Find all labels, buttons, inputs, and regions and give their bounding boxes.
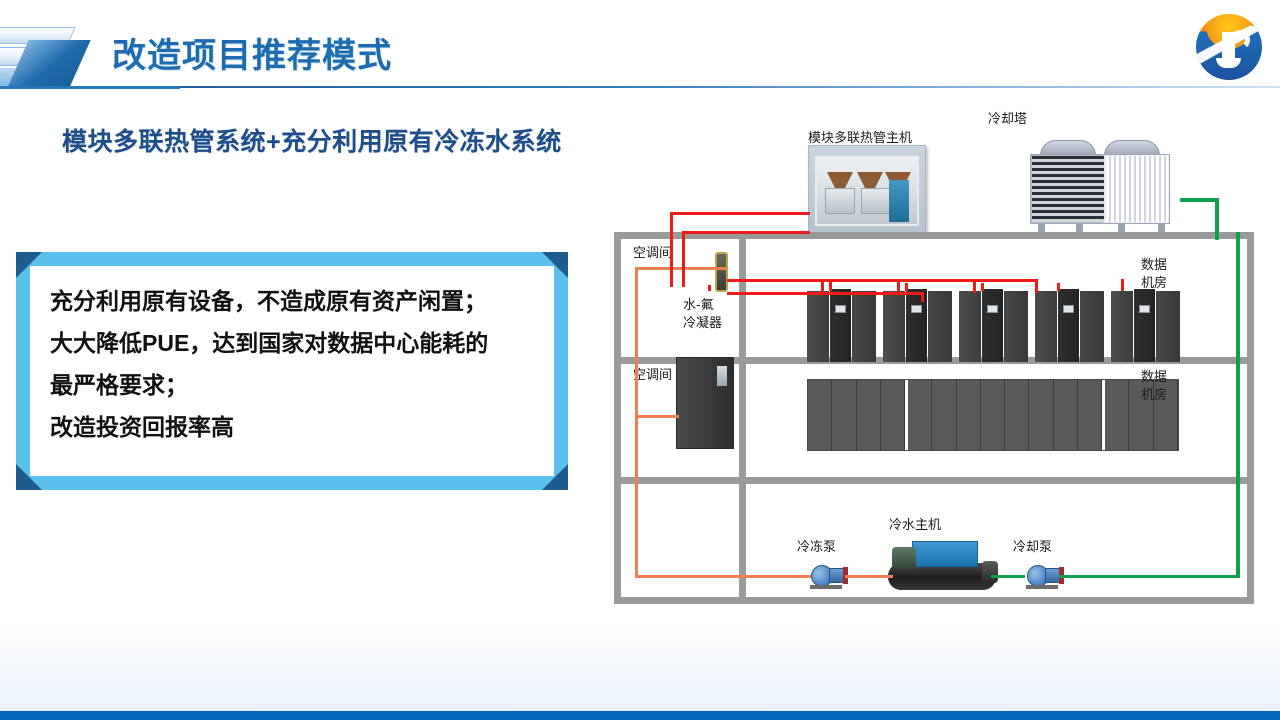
ac-cab-left: [959, 291, 981, 362]
pipe-red-condenser-tap: [708, 285, 711, 291]
mid-floor-server-racks: [807, 379, 1179, 451]
top-floor-ac-units: [807, 289, 1179, 362]
ac-unit-group-3: [959, 289, 1028, 362]
ac-unit-group-5: [1111, 289, 1180, 362]
chiller-blue-body: [912, 541, 978, 567]
module-heatpipe-host-photo: [808, 145, 926, 235]
water-fluorine-condenser-icon: [715, 252, 728, 292]
pipe-red-to-unit-4: [1057, 283, 1060, 291]
mid-floor-ac-cabinet: [676, 357, 734, 449]
ac-display-panel: [987, 305, 998, 313]
ac-cab-left: [883, 291, 905, 362]
header-underline: [175, 86, 1280, 88]
pipe-green-chiller-to-pump: [991, 575, 1025, 578]
heatpipe-frame: [815, 156, 919, 226]
pipe-red-to-unit-1: [829, 279, 832, 291]
ac-cab-center: [1134, 289, 1155, 362]
label-ac-room-top: 空调间: [633, 245, 672, 262]
callout-line-4: 改造投资回报率高: [50, 406, 548, 448]
page-title: 改造项目推荐模式: [112, 28, 392, 77]
pipe-red-branch-a: [727, 279, 1037, 282]
company-logo-icon: [1196, 14, 1262, 80]
pipe-orange-to-ac-cabinet: [635, 415, 679, 418]
footer-bar: [0, 711, 1280, 720]
cooling-tower-photo: [1020, 134, 1180, 242]
ac-cab-center: [982, 289, 1003, 362]
rack: [881, 380, 905, 450]
label-cooling-pump: 冷却泵: [1013, 539, 1052, 556]
pipe-orange-top-run: [635, 267, 727, 270]
pipe-red-host-top-run: [670, 212, 810, 215]
pipe-red-host-riser: [670, 212, 673, 287]
benefits-callout-box: 充分利用原有设备，不造成原有资产闲置； 大大降低PUE，达到国家对数据中心能耗的…: [16, 252, 568, 490]
rack: [832, 380, 856, 450]
header-underline-left: [0, 86, 180, 89]
ac-display-panel: [1139, 305, 1150, 313]
pump-base: [810, 585, 842, 589]
label-water-fluorine-condenser-1: 水-氟: [683, 297, 714, 314]
label-water-fluorine-condenser-2: 冷凝器: [683, 315, 722, 332]
label-ac-room-mid: 空调间: [633, 367, 672, 384]
rack: [957, 380, 981, 450]
chiller-compressor: [892, 547, 916, 569]
rack: [981, 380, 1005, 450]
slide-header: 改造项目推荐模式: [0, 0, 1280, 92]
pipe-green-bottom-run: [1059, 575, 1239, 578]
rack: [1029, 380, 1053, 450]
rack: [1105, 380, 1129, 450]
pipe-red-to-unit-2: [905, 283, 908, 291]
tower-louvers: [1032, 156, 1104, 222]
rack: [1054, 380, 1078, 450]
ac-cab-left: [1035, 291, 1057, 362]
ac-cab-left: [1111, 291, 1133, 362]
pump-base: [1026, 585, 1058, 589]
ac-cab-right: [852, 291, 876, 362]
room-divider-bottom: [739, 477, 746, 597]
label-data-room-mid-2: 机房: [1141, 387, 1167, 404]
rack: [1005, 380, 1029, 450]
pipe-red-drop-x: [1035, 279, 1038, 293]
pipe-orange-pump-to-chiller: [845, 575, 893, 578]
label-cooling-tower: 冷却塔: [988, 111, 1027, 128]
ac-cab-right: [1004, 291, 1028, 362]
rack: [908, 380, 932, 450]
pipe-red-to-unit-5: [1121, 279, 1124, 291]
system-diagram: 模块多联热管主机 冷却塔: [600, 100, 1270, 630]
pipe-orange-riser: [635, 267, 638, 575]
pipe-green-tower-run: [1180, 198, 1219, 202]
pipe-green-tower-riser: [1215, 198, 1219, 240]
ac-display-panel: [911, 305, 922, 313]
room-divider-top: [739, 239, 746, 357]
section-subtitle: 模块多联热管系统+充分利用原有冷冻水系统: [62, 122, 562, 158]
pipe-red-riser-2: [897, 279, 900, 293]
ac-unit-group-4: [1035, 289, 1104, 362]
ac-display-panel: [1063, 305, 1074, 313]
cooling-water-pump-icon: [1023, 563, 1063, 589]
rack: [1078, 380, 1102, 450]
pipe-red-to-unit-3: [981, 283, 984, 291]
ac-display-panel: [835, 305, 846, 313]
ac-cab-left: [807, 291, 829, 362]
label-data-room-top-2: 机房: [1141, 275, 1167, 292]
heatpipe-blue-module: [889, 180, 909, 222]
label-data-room-top-1: 数据: [1141, 257, 1167, 274]
chiller-endcap: [982, 561, 998, 583]
room-divider-mid: [739, 357, 746, 477]
pipe-green-riser: [1236, 232, 1240, 578]
chilled-water-pump-icon: [807, 563, 847, 589]
pipe-red-riser-3: [973, 279, 976, 293]
callout-text: 充分利用原有设备，不造成原有资产闲置； 大大降低PUE，达到国家对数据中心能耗的…: [50, 280, 548, 448]
pipe-red-riser-1: [821, 279, 824, 293]
pipe-orange-bottom-run: [635, 575, 811, 578]
ac-unit-group-2: [883, 289, 952, 362]
pipe-red-host-riser-2: [682, 231, 685, 287]
logo-j-hook: [1216, 58, 1241, 68]
water-chiller-icon: [886, 537, 998, 595]
rack: [857, 380, 881, 450]
ac-cab-center: [1058, 289, 1079, 362]
ac-cab-right: [1156, 291, 1180, 362]
slide-root: 改造项目推荐模式 模块多联热管系统+充分利用原有冷冻水系统 充分利用原有设备，不…: [0, 0, 1280, 720]
label-data-room-mid-1: 数据: [1141, 369, 1167, 386]
heatpipe-cabinet-1: [825, 188, 855, 214]
ac-cab-center: [830, 289, 851, 362]
floor-divider-2: [621, 477, 1247, 484]
label-chilled-pump: 冷冻泵: [797, 539, 836, 556]
tower-ribs: [1106, 156, 1168, 222]
label-chiller-host: 冷水主机: [889, 517, 941, 534]
rack: [932, 380, 956, 450]
ac-cab-right: [1080, 291, 1104, 362]
pipe-red-branch-b: [727, 292, 923, 295]
rack: [808, 380, 832, 450]
pipe-red-host-top-run-2: [682, 231, 810, 234]
ac-unit-group-1: [807, 289, 876, 362]
heatpipe-cabinet-2: [861, 188, 891, 214]
ac-cabinet-panel: [717, 366, 727, 386]
callout-line-3: 最严格要求；: [50, 364, 548, 406]
callout-line-2: 大大降低PUE，达到国家对数据中心能耗的: [50, 322, 548, 364]
callout-line-1: 充分利用原有设备，不造成原有资产闲置；: [50, 280, 548, 322]
ac-cab-right: [928, 291, 952, 362]
pipe-red-drop-y: [921, 292, 924, 302]
